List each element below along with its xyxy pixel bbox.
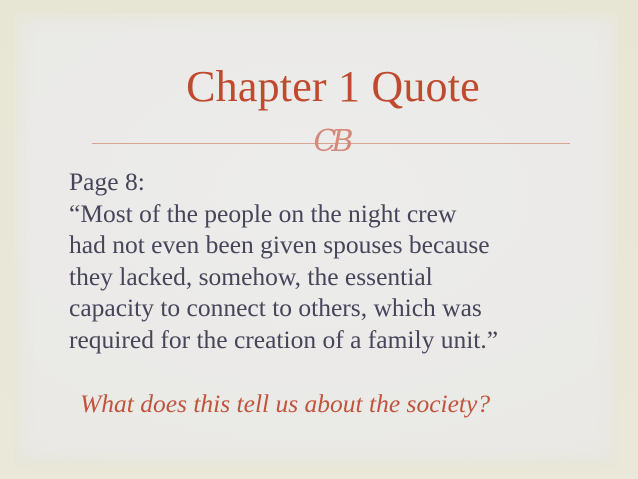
discussion-question: What does this tell us about the society… (80, 388, 620, 419)
quote-line-3: they lacked, somehow, the essential (69, 261, 609, 293)
quote-line-2: had not even been given spouses because (69, 229, 609, 261)
title-divider: CB (92, 131, 570, 157)
slide-content-panel: Chapter 1 Quote CB Page 8: “Most of the … (14, 13, 618, 466)
slide: Chapter 1 Quote CB Page 8: “Most of the … (0, 0, 638, 479)
page-reference-label: Page 8: (69, 166, 609, 198)
quote-body: Page 8: “Most of the people on the night… (69, 166, 609, 356)
quote-line-4: capacity to connect to others, which was (69, 292, 609, 324)
quote-line-5: required for the creation of a family un… (69, 324, 609, 356)
quote-line-1: “Most of the people on the night crew (69, 198, 609, 230)
page-title: Chapter 1 Quote (14, 62, 638, 112)
flourish-ornament-icon: CB (310, 127, 353, 157)
